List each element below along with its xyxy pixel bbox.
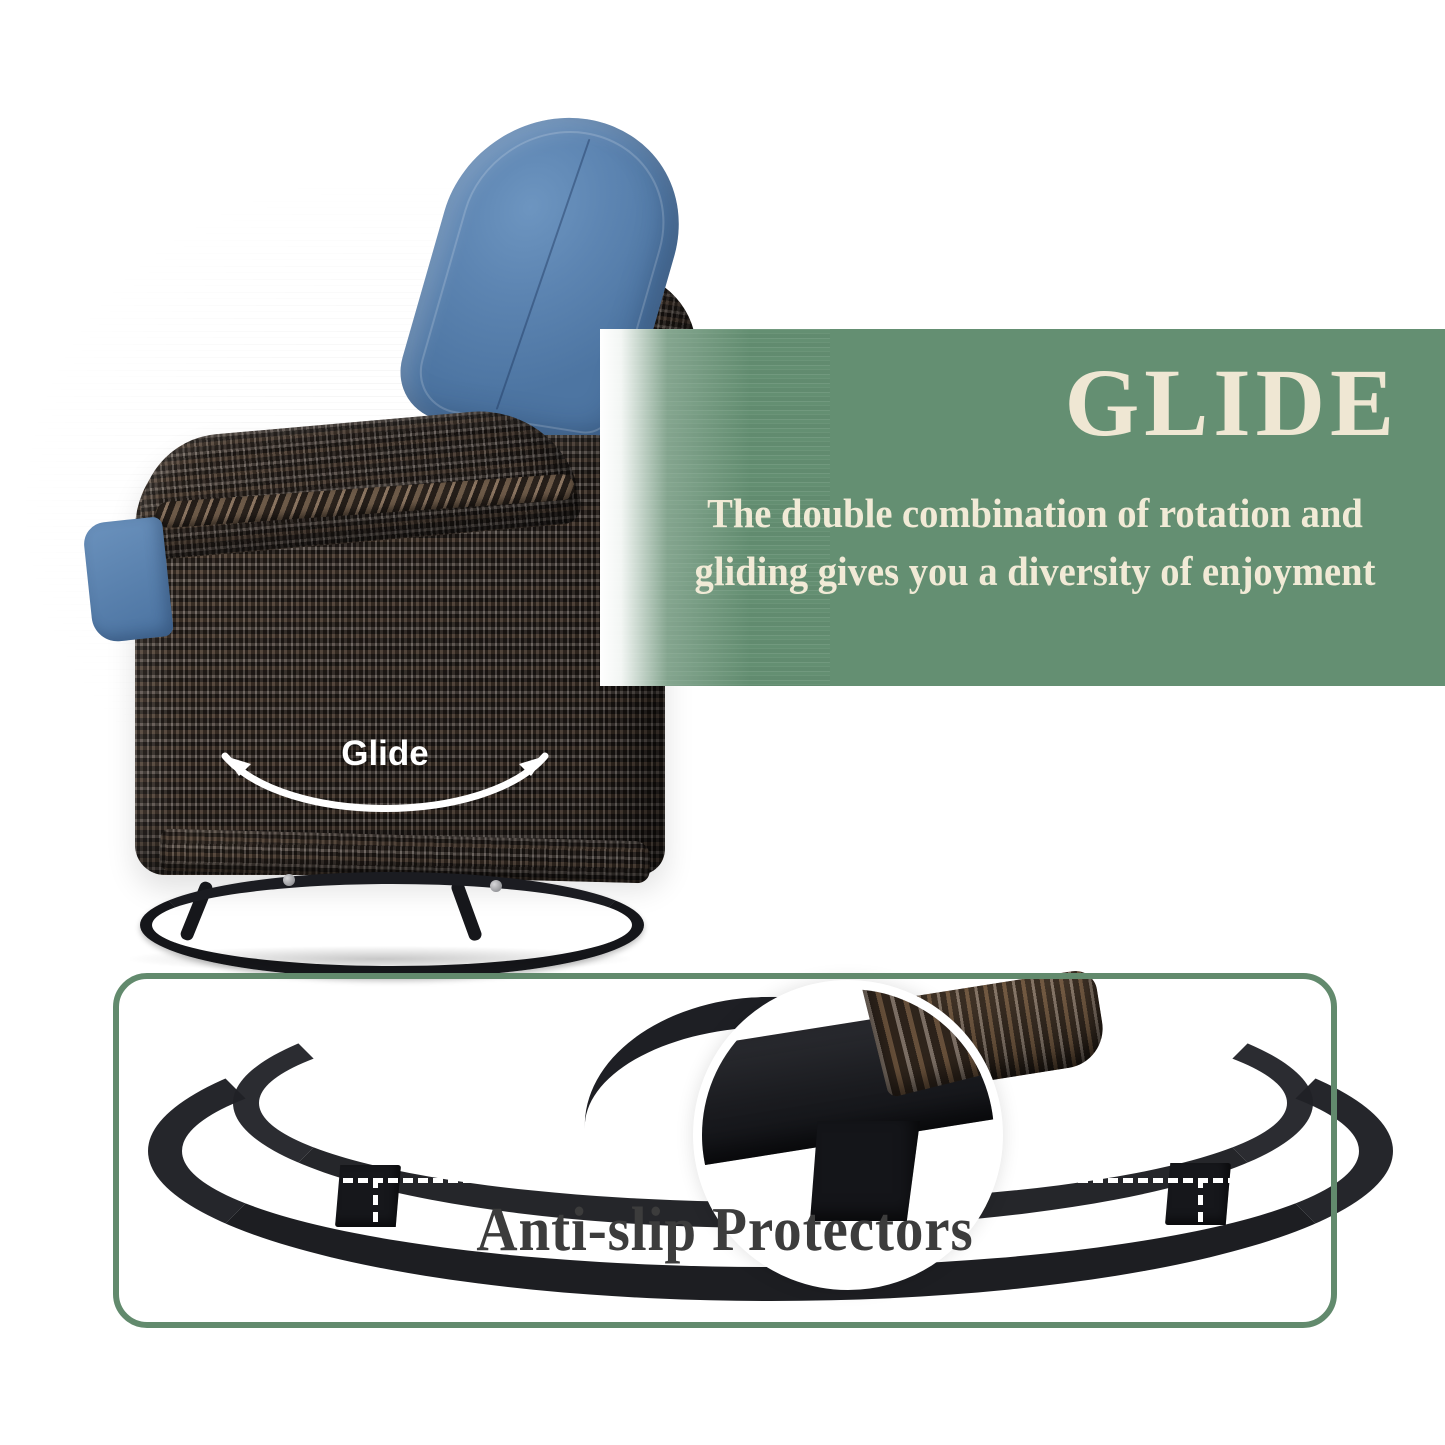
base-screw-left	[283, 874, 295, 886]
infographic-root: Glide GLIDE The double combination of ro…	[0, 0, 1445, 1445]
bottom-feature-section: Anti-slip Protectors	[0, 940, 1445, 1445]
glide-overlay-label: Glide	[195, 734, 575, 774]
green-info-panel: GLIDE The double combination of rotation…	[600, 329, 1445, 686]
bottom-caption: Anti-slip Protectors	[162, 1195, 1288, 1266]
top-feature-section: Glide GLIDE The double combination of ro…	[0, 0, 1445, 940]
glide-arrow-overlay: Glide	[195, 718, 575, 828]
bottom-panel-border	[113, 973, 1337, 1328]
base-screw-right	[490, 880, 502, 892]
panel-headline: GLIDE	[600, 355, 1399, 451]
lower-cushion-edge	[82, 516, 174, 644]
panel-description: The double combination of rotation and g…	[678, 484, 1392, 600]
